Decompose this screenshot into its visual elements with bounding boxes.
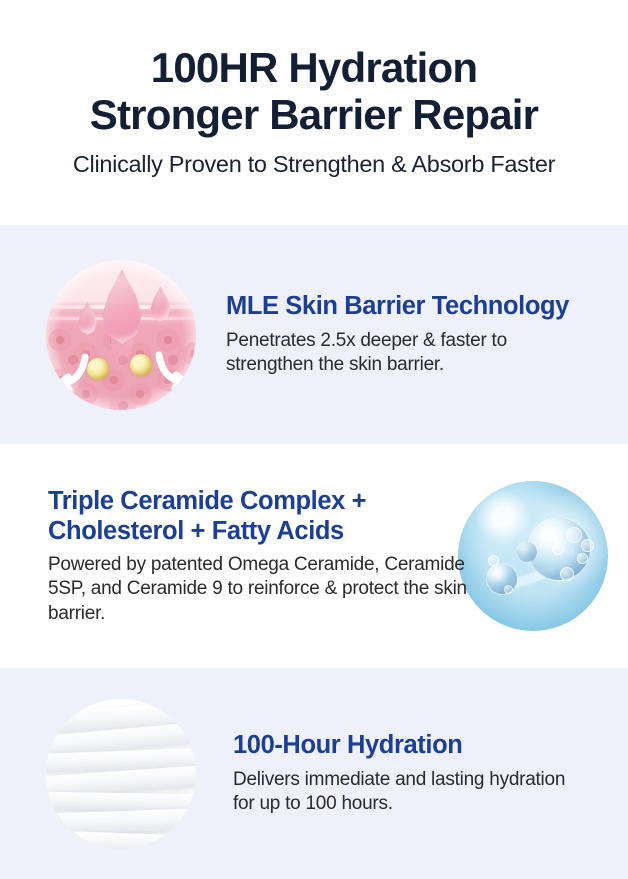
feature-text-block: Triple Ceramide Complex + Cholesterol + … (0, 486, 470, 627)
header: 100HR Hydration Stronger Barrier Repair … (0, 0, 628, 225)
feature-heading: Triple Ceramide Complex + Cholesterol + … (48, 486, 470, 546)
feature-section-mle-skin-barrier-technology: MLE Skin Barrier Technology Penetrates 2… (0, 225, 628, 444)
page-title-line-2: Stronger Barrier Repair (14, 91, 614, 138)
water-molecule-sphere-wrapper (458, 481, 608, 631)
infographic-page: 100HR Hydration Stronger Barrier Repair … (0, 0, 628, 879)
feature-body: Penetrates 2.5x deeper & faster to stren… (226, 329, 586, 378)
feature-text-block: 100-Hour Hydration Delivers immediate an… (196, 730, 576, 816)
lipid-particle-icon (130, 354, 152, 376)
bubble-icon (540, 531, 550, 541)
feature-heading: MLE Skin Barrier Technology (226, 291, 586, 321)
absorption-arrow-right-icon (150, 350, 190, 390)
page-subtitle: Clinically Proven to Strengthen & Absorb… (73, 151, 555, 178)
feature-body: Delivers immediate and lasting hydration… (233, 768, 576, 817)
bubble-icon (504, 585, 513, 594)
molecule-node-tiny (516, 541, 538, 563)
page-title-line-1: 100HR Hydration (151, 44, 477, 91)
feature-section-triple-ceramide-complex: Triple Ceramide Complex + Cholesterol + … (0, 444, 628, 668)
feature-text-block: MLE Skin Barrier Technology Penetrates 2… (196, 291, 586, 377)
absorption-arrow-left-icon (54, 352, 94, 392)
feature-heading: 100-Hour Hydration (233, 730, 576, 760)
bubble-icon (577, 553, 588, 564)
page-title: 100HR Hydration Stronger Barrier Repair (14, 44, 614, 139)
bubble-icon (581, 539, 594, 552)
bubble-icon (488, 555, 499, 566)
bubble-icon (552, 543, 564, 555)
molecule-node-small (486, 563, 518, 595)
feature-section-100-hour-hydration: 100-Hour Hydration Delivers immediate an… (0, 668, 628, 879)
feature-body: Powered by patented Omega Ceramide, Cera… (48, 553, 470, 627)
bubble-icon (560, 567, 574, 581)
cream-texture-illustration (46, 699, 196, 849)
water-molecule-sphere-illustration (458, 481, 608, 631)
skin-cross-section-illustration (46, 260, 196, 410)
cream-streak (46, 791, 196, 811)
bubble-icon (566, 527, 582, 543)
